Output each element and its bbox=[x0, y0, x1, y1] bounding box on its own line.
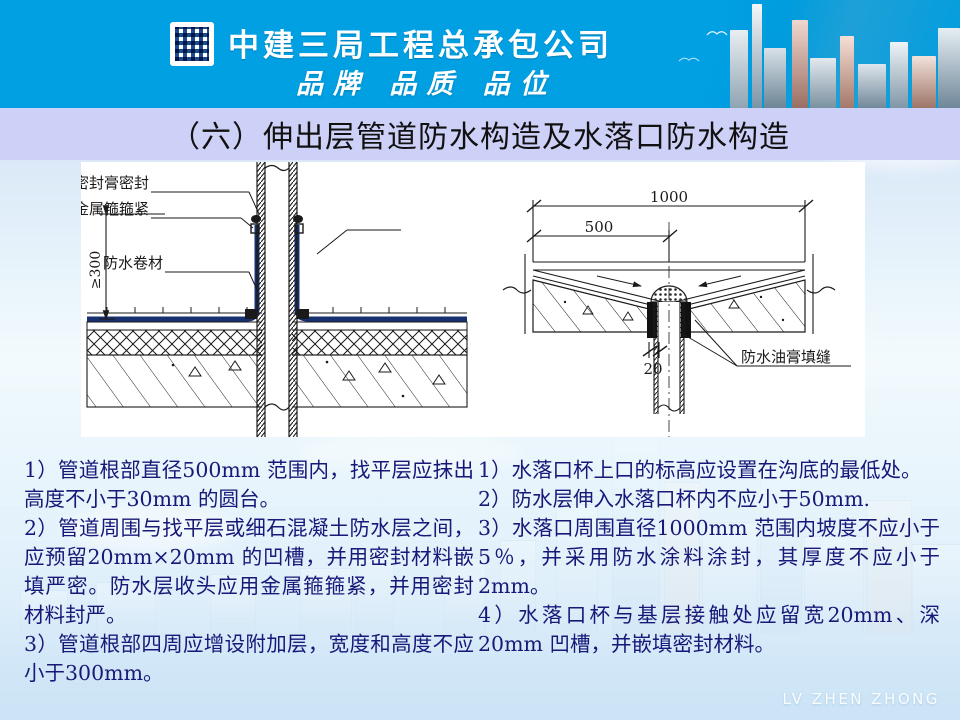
company-logo-icon bbox=[170, 22, 214, 66]
header-banner: 中建三局工程总承包公司 品牌 品质 品位 bbox=[0, 0, 960, 108]
dim-20: 20 bbox=[643, 360, 662, 378]
dim-500: 500 bbox=[585, 218, 614, 236]
company-slogan: 品牌 品质 品位 bbox=[296, 62, 557, 101]
notes-right-column: 1）水落口杯上口的标高应设置在沟底的最低处。 2）防水层伸入水落口杯内不应小于5… bbox=[478, 456, 940, 659]
page-title: （六）伸出层管道防水构造及水落口防水构造 bbox=[0, 108, 960, 160]
label-membrane: 防水卷材 bbox=[103, 254, 163, 272]
dim-height-300: ≥300 bbox=[88, 251, 104, 289]
note-item: 1）水落口杯上口的标高应设置在沟底的最低处。 bbox=[478, 456, 940, 485]
label-metal-clamp: 金属箍箍紧 bbox=[81, 200, 149, 218]
bird-icon bbox=[706, 28, 728, 38]
note-item: 1）管道根部直径500mm 范围内，找平层应抹出高度不小于30mm 的圆台。 bbox=[24, 456, 474, 514]
bird-icon bbox=[678, 54, 700, 64]
header-skyline-photo bbox=[660, 0, 960, 108]
figure-roof-drain: 1000 500 20 防水油膏填缝 bbox=[473, 162, 865, 437]
company-name: 中建三局工程总承包公司 bbox=[228, 20, 613, 65]
figure-panel: ≥300 密封膏密封 金属箍箍紧 防水卷材 bbox=[81, 162, 865, 437]
label-sealing-paste: 防水油膏填缝 bbox=[741, 348, 831, 366]
label-sealant: 密封膏密封 bbox=[81, 174, 149, 192]
dim-1000: 1000 bbox=[650, 188, 688, 206]
author-watermark: LV ZHEN ZHONG bbox=[783, 690, 940, 708]
slide-canvas: 中建三局工程总承包公司 品牌 品质 品位 （六）伸出层管道防水构造及水落口防水构… bbox=[0, 0, 960, 720]
figure-pipe-penetration: ≥300 密封膏密封 金属箍箍紧 防水卷材 bbox=[81, 162, 473, 437]
note-item: 3）管道根部四周应增设附加层，宽度和高度不应小于300mm。 bbox=[24, 630, 474, 688]
note-item: 4）水落口杯与基层接触处应留宽20mm、深20mm 凹槽，并嵌填密封材料。 bbox=[478, 601, 940, 659]
notes-left-column: 1）管道根部直径500mm 范围内，找平层应抹出高度不小于30mm 的圆台。 2… bbox=[24, 456, 474, 688]
note-item: 2）管道周围与找平层或细石混凝土防水层之间，应预留20mm×20mm 的凹槽，并… bbox=[24, 514, 474, 630]
note-item: 2）防水层伸入水落口杯内不应小于50mm. bbox=[478, 485, 940, 514]
note-item: 3）水落口周围直径1000mm 范围内坡度不应小于5％，并采用防水涂料涂封，其厚… bbox=[478, 514, 940, 601]
